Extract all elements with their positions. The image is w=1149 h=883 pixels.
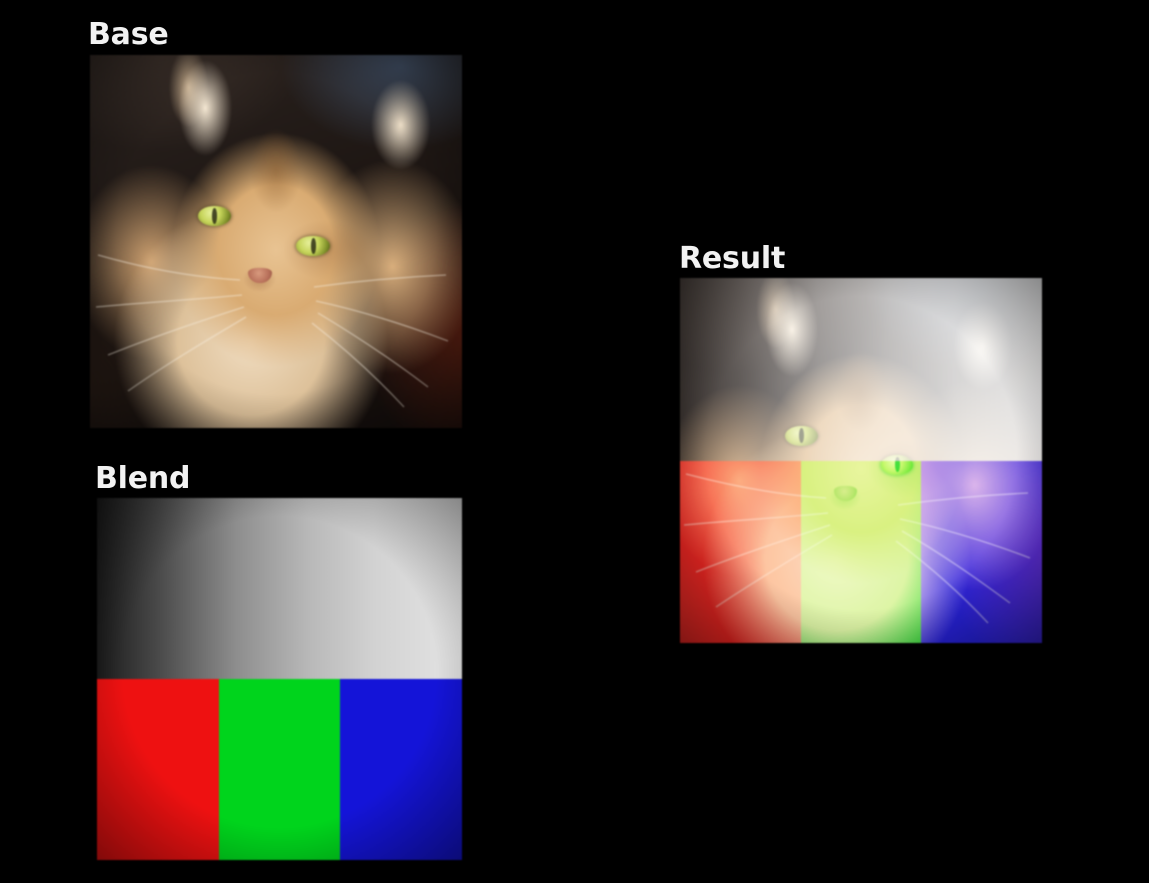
blend-gradient-band [97,498,462,679]
result-image [680,278,1042,643]
result-gradient-overlay [680,278,1042,461]
panel-title-base: Base [88,20,169,50]
scene-canvas: Base [0,0,1149,883]
result-red-bar [680,461,801,644]
blend-green-bar [219,679,341,860]
panel-title-result: Result [679,244,785,274]
blend-rgb-bands [97,679,462,860]
base-image [90,55,462,428]
result-rgb-overlay [680,461,1042,644]
result-green-bar [801,461,922,644]
result-blue-bar [921,461,1042,644]
blend-blue-bar [340,679,462,860]
blend-image [97,498,462,860]
blend-red-bar [97,679,219,860]
cat-photo-base [90,55,462,428]
panel-title-blend: Blend [95,464,190,494]
cat-whiskers [90,55,462,428]
